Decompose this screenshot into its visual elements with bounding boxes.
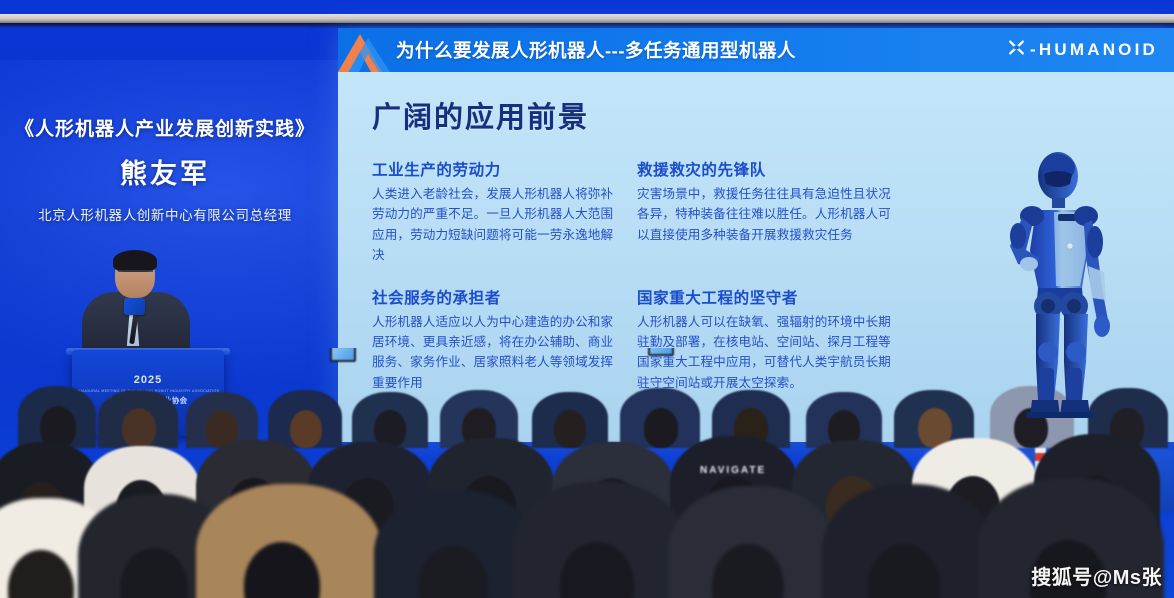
podium-chinese-line-2: 成立大会 (72, 406, 224, 418)
podium-english-line: INAUGURAL MEETING OF THE BEIJING ROBOT I… (72, 389, 224, 395)
podium-year: 2025 (72, 372, 224, 389)
speaker-role: 北京人形机器人创新中心有限公司总经理 (0, 204, 330, 224)
x-humanoid-logo-text: -HUMANOID (1030, 40, 1158, 60)
chevron-logo-icon (338, 28, 406, 72)
podium-chinese-line-1: 北京市机器人产业协会 (72, 395, 224, 407)
block-title: 社会服务的承担者 (372, 286, 622, 308)
talk-title: 《人形机器人产业发展创新实践》 (0, 118, 330, 143)
glasses-icon (118, 270, 153, 277)
projection-screen: 为什么要发展人形机器人---多任务通用型机器人 -HUMANOID 广阔的应用前… (338, 28, 1174, 442)
slide-content-columns: 工业生产的劳动力 人类进入老龄社会，发展人形机器人将弥补劳动力的严重不足。一旦人… (372, 158, 1148, 413)
podium-branding: 2025 INAUGURAL MEETING OF THE BEIJING RO… (72, 372, 224, 418)
block-body: 人类进入老龄社会，发展人形机器人将弥补劳动力的严重不足。一旦人形机器人大范围应用… (372, 184, 622, 266)
content-block-rescue-vanguard: 救援救灾的先锋队 灾害场景中，救援任务往往具有急迫性且状况各异，特种装备往往难以… (637, 158, 892, 266)
x-humanoid-logo: -HUMANOID (1007, 38, 1158, 62)
x-mark-icon (1007, 38, 1026, 62)
watermark: 搜狐号@Ms张 (1031, 561, 1162, 590)
presenter-at-podium: 2025 INAUGURAL MEETING OF THE BEIJING RO… (60, 250, 230, 410)
content-block-industrial-labor: 工业生产的劳动力 人类进入老龄社会，发展人形机器人将弥补劳动力的严重不足。一旦人… (372, 158, 622, 266)
block-title: 工业生产的劳动力 (372, 158, 622, 180)
slide-heading: 广阔的应用前景 (372, 94, 1148, 136)
block-title: 救援救灾的先锋队 (637, 158, 892, 180)
speaker-title-panel: 《人形机器人产业发展创新实践》 熊友军 北京人形机器人创新中心有限公司总经理 (0, 118, 330, 224)
slide-header-bar: 为什么要发展人形机器人---多任务通用型机器人 -HUMANOID (338, 28, 1174, 72)
microphone-flag (124, 298, 145, 315)
slide-body: 广阔的应用前景 工业生产的劳动力 人类进入老龄社会，发展人形机器人将弥补劳动力的… (338, 72, 1174, 442)
block-body: 灾害场景中，救援任务往往具有急迫性且状况各异，特种装备往往难以胜任。人形机器人可… (637, 184, 892, 245)
ceiling-rail (0, 14, 1174, 23)
block-title: 国家重大工程的坚守者 (637, 286, 892, 308)
content-block-social-service: 社会服务的承担者 人形机器人适应以人为中心建造的办公和家居环境、更具亲近感，将在… (372, 286, 622, 394)
content-block-national-projects: 国家重大工程的坚守者 人形机器人可以在缺氧、强辐射的环境中长期驻勤及部署，在核电… (637, 286, 892, 394)
block-body: 人形机器人可以在缺氧、强辐射的环境中长期驻勤及部署，在核电站、空间站、探月工程等… (637, 312, 892, 394)
slide-header-title: 为什么要发展人形机器人---多任务通用型机器人 (396, 37, 796, 63)
speaker-name: 熊友军 (0, 152, 330, 191)
block-body: 人形机器人适应以人为中心建造的办公和家居环境、更具亲近感，将在办公辅助、商业服务… (372, 312, 622, 394)
podium: 2025 INAUGURAL MEETING OF THE BEIJING RO… (72, 350, 224, 436)
presenter-hair (113, 250, 157, 272)
